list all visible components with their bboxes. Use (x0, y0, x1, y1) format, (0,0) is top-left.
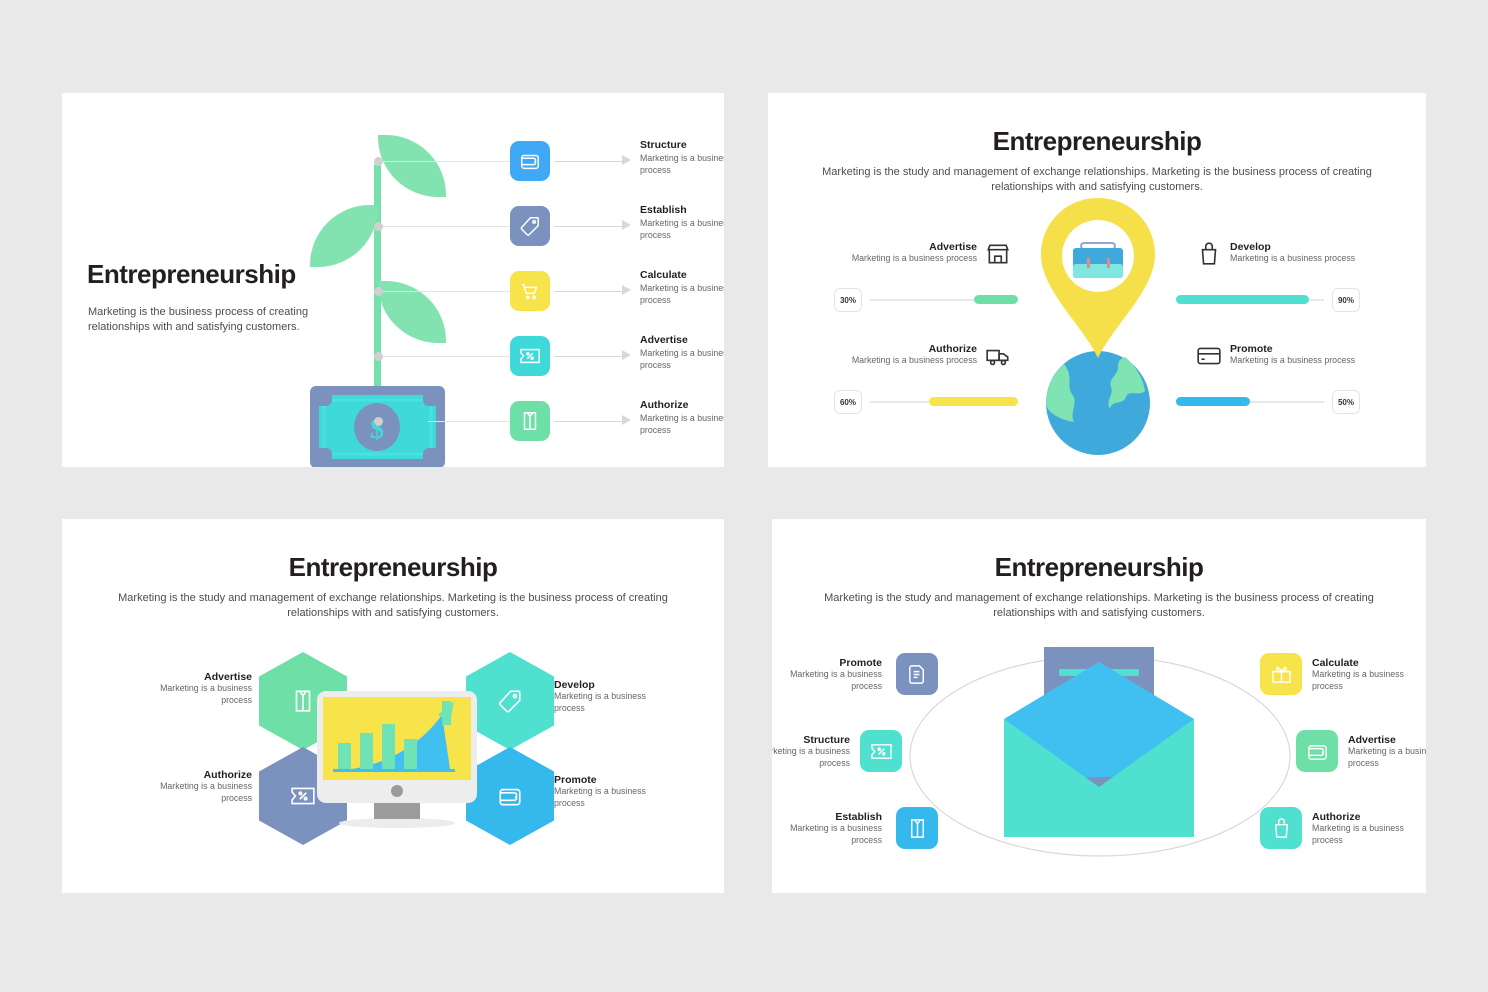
list-item-desc: Marketing is a business process (772, 746, 850, 770)
list-item-label: Structure (772, 734, 850, 746)
label-authorize[interactable]: Authorize Marketing is a business proces… (132, 769, 252, 805)
list-item-desc: Marketing is a business process (640, 153, 724, 177)
progress-fill (1176, 295, 1309, 304)
leader-line (428, 421, 510, 422)
store-icon (985, 241, 1011, 267)
list-item[interactable]: Authorize Marketing is a business proces… (510, 401, 720, 453)
label-promote[interactable]: Promote Marketing is a business process (554, 774, 674, 810)
list-item-desc: Marketing is a business process (554, 691, 674, 715)
label-authorize[interactable]: Authorize Marketing is a business proces… (1312, 811, 1424, 847)
slide-hexagon-monitor: Entrepreneurship Marketing is the study … (62, 519, 724, 893)
slide-map-pin-bars: Entrepreneurship Marketing is the study … (768, 93, 1426, 467)
bag-icon (1270, 817, 1293, 840)
list-item-label: Calculate (640, 269, 724, 281)
shirt-icon (290, 688, 316, 714)
progress-value: 90% (1332, 288, 1360, 312)
progress-bar[interactable]: 60% (834, 391, 1018, 413)
shirt-icon (906, 817, 929, 840)
tag-icon[interactable] (510, 206, 550, 246)
slide-envelope-circle: Entrepreneurship Marketing is the study … (772, 519, 1426, 893)
list-item-desc: Marketing is a business process (1348, 746, 1426, 770)
progress-value: 30% (834, 288, 862, 312)
list-item-label: Promote (1230, 343, 1355, 355)
list-item-desc: Marketing is a business process (772, 669, 882, 693)
arrow-head-icon (622, 155, 631, 165)
list-item[interactable]: Promote Marketing is a business process (1196, 343, 1371, 369)
node-authorize[interactable] (1260, 807, 1302, 849)
list-item[interactable]: Authorize Marketing is a business proces… (836, 343, 1011, 369)
list-item-desc: Marketing is a business process (852, 355, 977, 367)
progress-bar[interactable]: 90% (1176, 289, 1360, 311)
wallet-icon[interactable] (510, 141, 550, 181)
leader-line (378, 161, 510, 162)
progress-fill (929, 397, 1018, 406)
arrow-head-icon (622, 350, 631, 360)
list-item-label: Structure (640, 139, 724, 151)
shirt-icon[interactable] (510, 401, 550, 441)
progress-value: 50% (1332, 390, 1360, 414)
label-develop[interactable]: Develop Marketing is a business process (554, 679, 674, 715)
list-item-desc: Marketing is a business process (1312, 823, 1424, 847)
arrow-head-icon (622, 285, 631, 295)
page-title: Entrepreneurship (768, 126, 1426, 157)
progress-track (1176, 299, 1324, 301)
node-advertise[interactable] (1296, 730, 1338, 772)
plant-leaf-top (378, 135, 446, 197)
list-item-label: Develop (1230, 241, 1355, 253)
node-calculate[interactable] (1260, 653, 1302, 695)
list-item-text: Structure Marketing is a business proces… (640, 139, 724, 177)
leader-dot (374, 417, 383, 426)
list-item-desc: Marketing is a business process (1230, 355, 1355, 367)
list-item-text: Calculate Marketing is a business proces… (640, 269, 724, 307)
list-item-label: Advertise (852, 241, 977, 253)
coupon-icon (290, 783, 316, 809)
progress-track (870, 299, 1018, 301)
list-item-label: Authorize (1312, 811, 1424, 823)
leader-dot (374, 222, 383, 231)
page-title: Entrepreneurship (62, 552, 724, 583)
wallet-icon (1306, 740, 1329, 763)
progress-track (1176, 401, 1324, 403)
page-subtitle: Marketing is the business process of cre… (88, 305, 338, 335)
list-item-desc: Marketing is a business process (772, 823, 882, 847)
list-item-desc: Marketing is a business process (1312, 669, 1424, 693)
banknote-icon: $ (310, 386, 445, 467)
wallet-icon (497, 783, 523, 809)
page-title: Entrepreneurship (87, 259, 296, 290)
list-item-desc: Marketing is a business process (640, 348, 724, 372)
progress-track (870, 401, 1018, 403)
list-item-label: Advertise (640, 334, 724, 346)
list-item-label: Promote (554, 774, 674, 786)
hex-develop[interactable] (466, 652, 554, 750)
page-subtitle: Marketing is the study and management of… (113, 591, 673, 622)
list-item[interactable]: Advertise Marketing is a business proces… (836, 241, 1011, 267)
list-item-label: Develop (554, 679, 674, 691)
list-item-desc: Marketing is a business process (852, 253, 977, 265)
list-item-desc: Marketing is a business process (554, 786, 674, 810)
list-item-desc: Marketing is a business process (640, 283, 724, 307)
bag-icon (1196, 241, 1222, 267)
list-item-label: Authorize (852, 343, 977, 355)
slide-money-plant: Entrepreneurship Marketing is the busine… (62, 93, 724, 467)
list-item[interactable]: Calculate Marketing is a business proces… (510, 271, 720, 323)
list-item-desc: Marketing is a business process (640, 413, 724, 437)
list-item-label: Advertise (132, 671, 252, 683)
label-calculate[interactable]: Calculate Marketing is a business proces… (1312, 657, 1424, 693)
page-subtitle: Marketing is the study and management of… (819, 591, 1379, 622)
list-item-text: Establish Marketing is a business proces… (640, 204, 724, 242)
list-item-label: Establish (640, 204, 724, 216)
leader-line (378, 291, 510, 292)
progress-value: 60% (834, 390, 862, 414)
monitor-growth-chart-illustration (314, 691, 479, 831)
progress-fill (1176, 397, 1250, 406)
label-structure[interactable]: Structure Marketing is a business proces… (772, 734, 850, 770)
map-pin-globe-briefcase-illustration (1013, 198, 1183, 458)
list-item-text: Authorize Marketing is a business proces… (640, 399, 724, 437)
connector-line (554, 226, 624, 227)
list-item-desc: Marketing is a business process (1230, 253, 1355, 265)
arrow-head-icon (622, 415, 631, 425)
plant-leaf-left (310, 205, 378, 267)
label-promote[interactable]: Promote Marketing is a business process (772, 657, 882, 693)
list-item[interactable]: Advertise Marketing is a business proces… (510, 336, 720, 388)
label-establish[interactable]: Establish Marketing is a business proces… (772, 811, 882, 847)
credit-card-icon (1196, 343, 1222, 369)
truck-icon (985, 343, 1011, 369)
progress-bar[interactable]: 30% (834, 289, 1018, 311)
open-envelope-letter-illustration (1004, 647, 1194, 847)
hex-promote[interactable] (466, 747, 554, 845)
leader-line (378, 226, 510, 227)
page-subtitle: Marketing is the study and management of… (817, 165, 1377, 196)
leader-line (378, 356, 510, 357)
list-item-label: Promote (772, 657, 882, 669)
list-item-desc: Marketing is a business process (132, 781, 252, 805)
node-promote[interactable] (896, 653, 938, 695)
list-item-desc: Marketing is a business process (132, 683, 252, 707)
progress-bar[interactable]: 50% (1176, 391, 1360, 413)
node-structure[interactable] (860, 730, 902, 772)
list-item-desc: Marketing is a business process (640, 218, 724, 242)
arrow-head-icon (622, 220, 631, 230)
document-icon (906, 663, 929, 686)
connector-line (554, 356, 624, 357)
coupon-icon[interactable] (510, 336, 550, 376)
list-item-label: Advertise (1348, 734, 1426, 746)
cart-icon[interactable] (510, 271, 550, 311)
list-item-label: Establish (772, 811, 882, 823)
connector-line (554, 291, 624, 292)
connector-line (554, 161, 624, 162)
list-item-text: Advertise Marketing is a business proces… (640, 334, 724, 372)
page-title: Entrepreneurship (772, 552, 1426, 583)
coupon-icon (870, 740, 893, 763)
node-establish[interactable] (896, 807, 938, 849)
list-item-label: Calculate (1312, 657, 1424, 669)
leader-dot (374, 352, 383, 361)
list-item[interactable]: Structure Marketing is a business proces… (510, 141, 720, 193)
progress-fill (974, 295, 1018, 304)
leader-dot (374, 287, 383, 296)
list-item-label: Authorize (132, 769, 252, 781)
tag-icon (497, 688, 523, 714)
leader-dot (374, 157, 383, 166)
list-item[interactable]: Establish Marketing is a business proces… (510, 206, 720, 258)
list-item[interactable]: Develop Marketing is a business process (1196, 241, 1371, 267)
label-advertise[interactable]: Advertise Marketing is a business proces… (1348, 734, 1426, 770)
label-advertise[interactable]: Advertise Marketing is a business proces… (132, 671, 252, 707)
connector-line (554, 421, 624, 422)
gift-icon (1270, 663, 1293, 686)
list-item-label: Authorize (640, 399, 724, 411)
